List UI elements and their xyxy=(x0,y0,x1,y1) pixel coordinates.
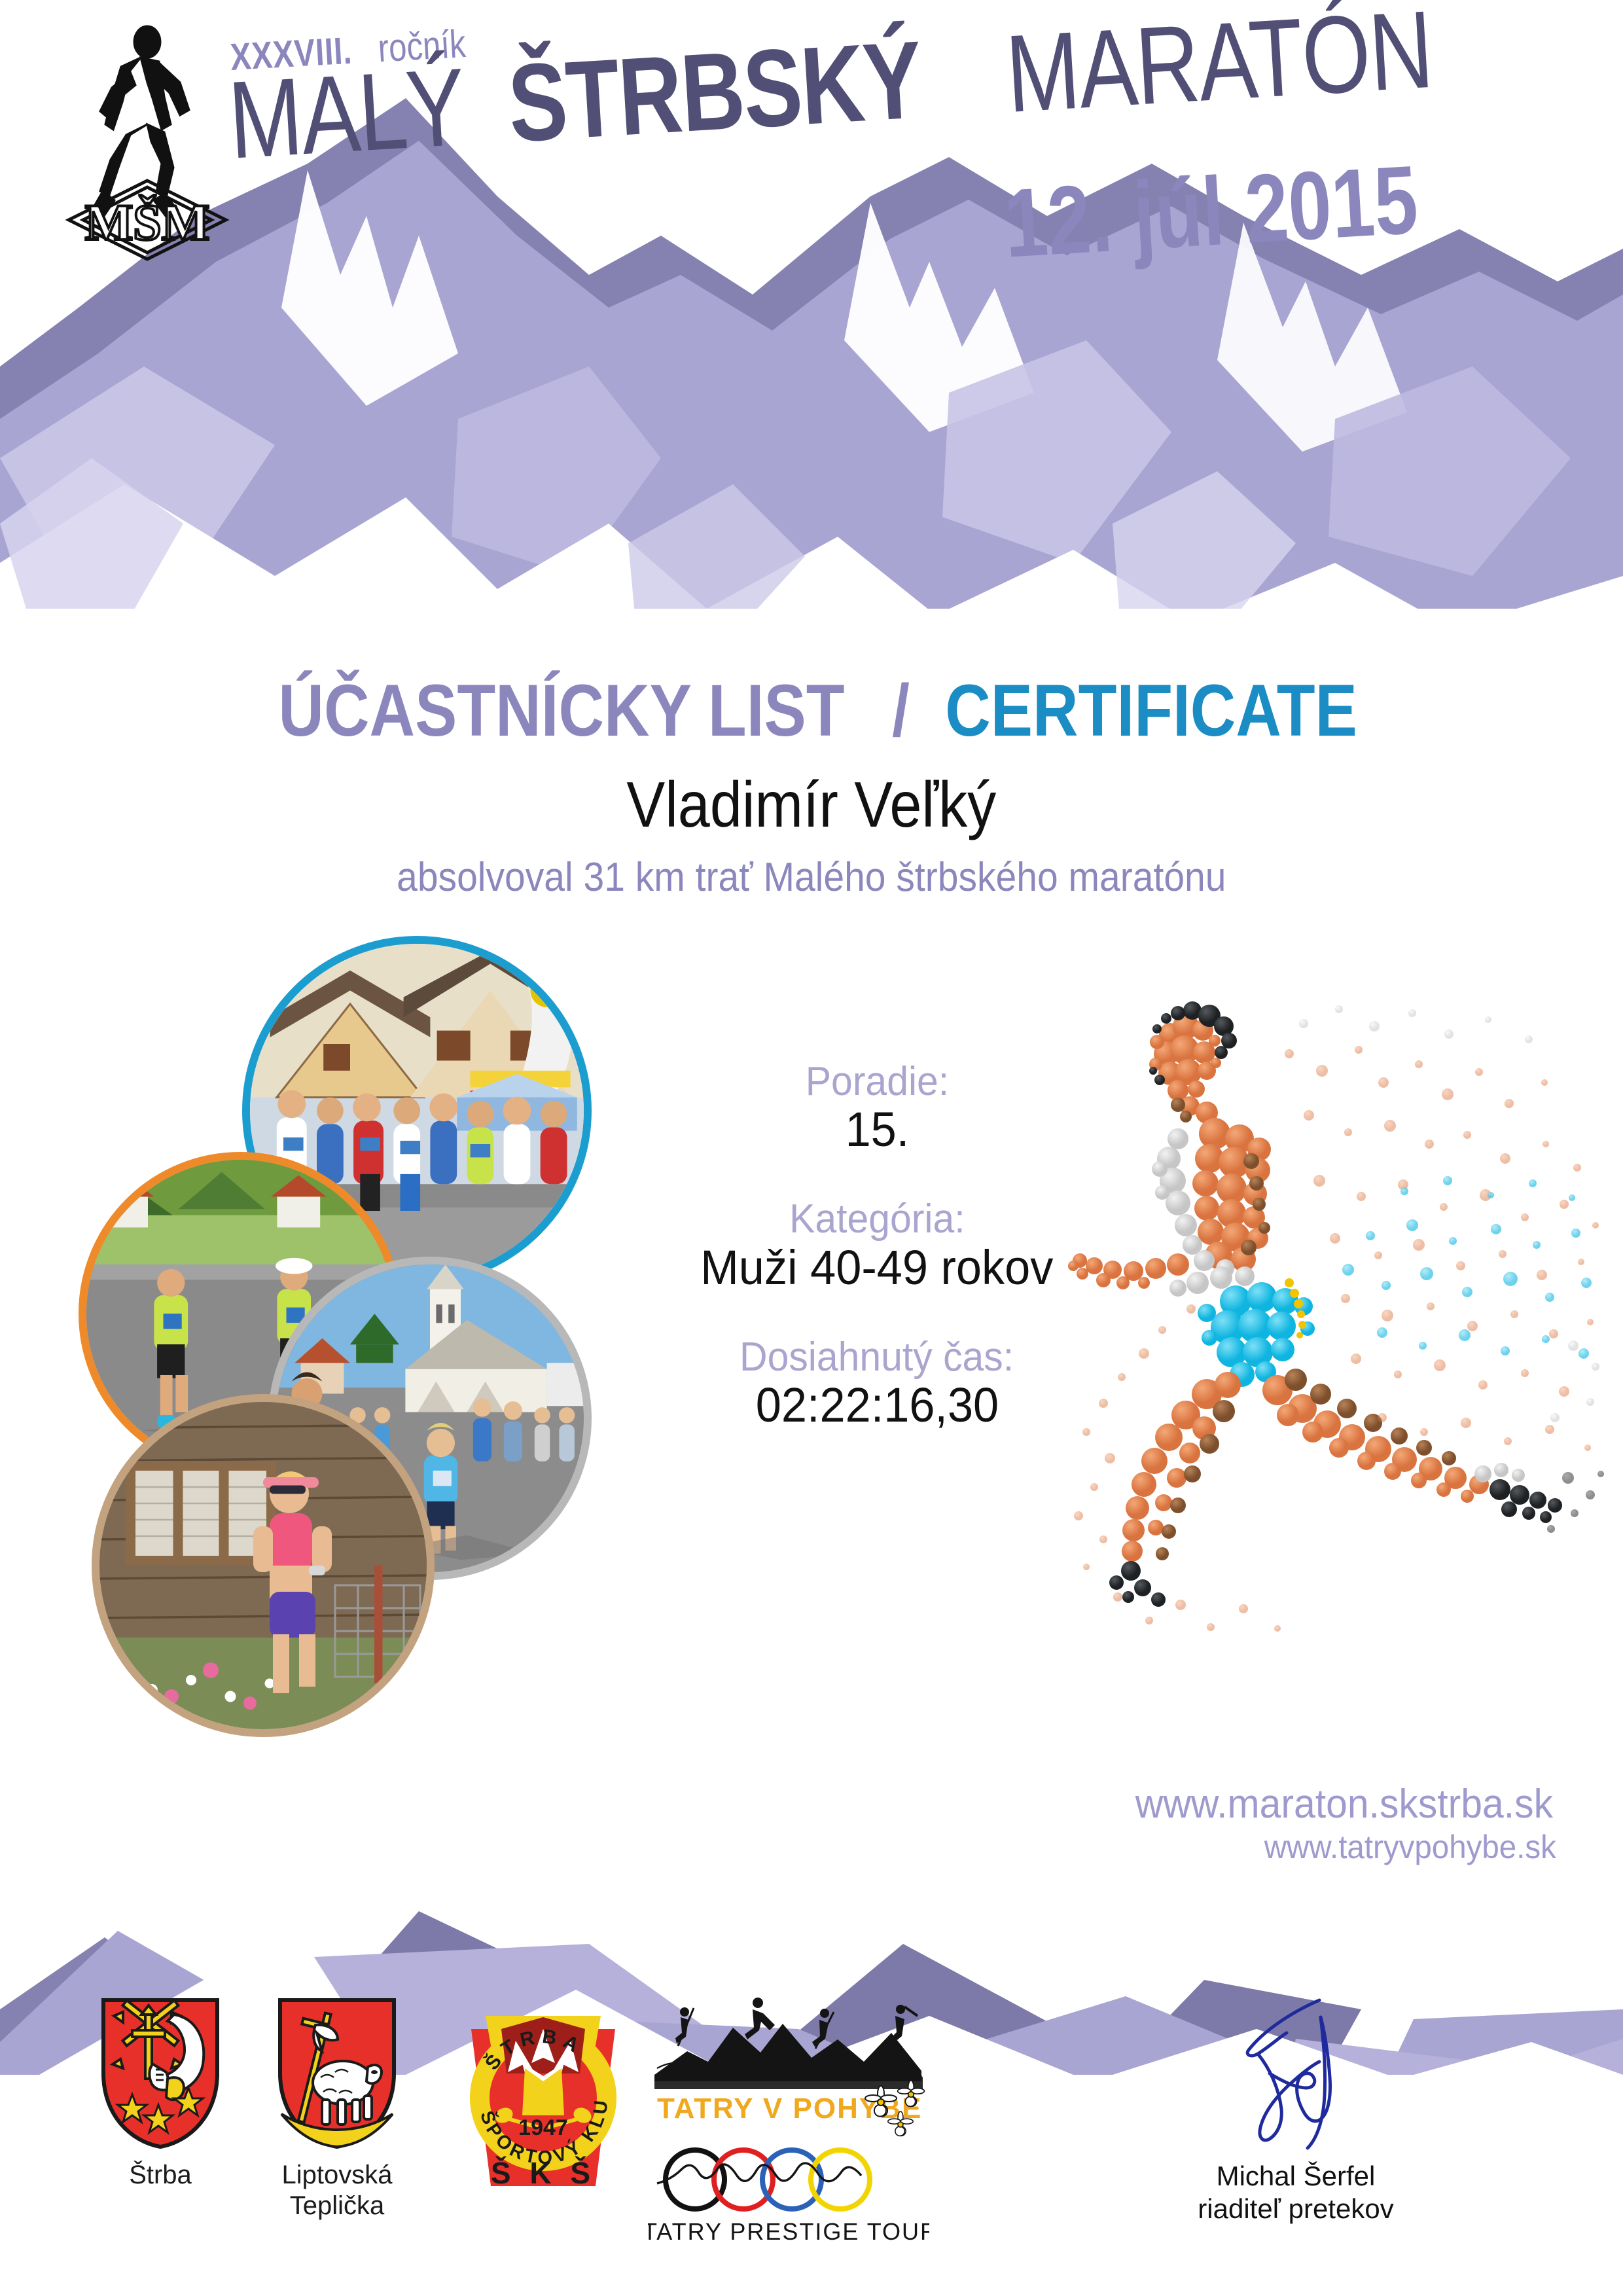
msm-runner-emblem: MŠM xyxy=(49,20,239,262)
url-primary[interactable]: www.maraton.skstrba.sk xyxy=(1124,1780,1564,1828)
title-maraton: MARATÓN xyxy=(1003,0,1435,129)
tatry-prestige-tour-rings xyxy=(666,2150,870,2209)
sks-year: 1947 xyxy=(518,2115,568,2140)
title-maly: MALÝ xyxy=(226,52,467,175)
logo-strba-caption: Štrba xyxy=(95,2160,226,2191)
photo-woman-runner-cottage xyxy=(92,1394,435,1737)
footer-logos: Štrba xyxy=(0,1983,1623,2296)
dotted-runner-graphic xyxy=(982,942,1623,1662)
signature-role: riaditeľ pretekov xyxy=(1113,2193,1479,2225)
certificate-page: MŠM XXXVIII. ročník MALÝŠTRBSKÝMARATÓN 1… xyxy=(0,0,1623,2296)
url-secondary[interactable]: www.tatryvpohybe.sk xyxy=(1124,1828,1564,1867)
svg-text:MŠM: MŠM xyxy=(85,194,210,251)
logo-strba: Štrba xyxy=(95,1996,226,2191)
logo-sks-club: 1947 ŠTRBA ŠPORTOVÝ KLUB Š K Š xyxy=(445,1990,641,2215)
certificate-title-en: CERTIFICATE xyxy=(945,674,1357,747)
certificate-subtitle-text: absolvoval 31 km trať Malého štrbského m… xyxy=(397,857,1226,898)
strba-coat-of-arms-icon xyxy=(98,1996,223,2150)
logo-liptovska-caption-line2: Teplička xyxy=(262,2191,412,2221)
tatry-prestige-tour-text: TATRY PRESTIGE TOUR xyxy=(648,2218,929,2245)
logo-tatry-v-pohybe: TATRY V POHYBE xyxy=(648,1990,929,2268)
logo-liptovska-teplicka: Liptovská Teplička xyxy=(262,1996,412,2221)
dotted-runner-svg xyxy=(982,942,1623,1662)
liptovska-teplicka-coat-of-arms-icon xyxy=(275,1996,399,2150)
svg-text:Š K Š: Š K Š xyxy=(491,2156,596,2190)
certificate-title: ÚČASTNÍCKY LIST / CERTIFICATE xyxy=(0,674,1623,747)
title-strbsky: ŠTRBSKÝ xyxy=(505,24,924,158)
photo-collage xyxy=(79,936,622,1787)
photo-woman-runner-image xyxy=(99,1402,427,1729)
logo-liptovska-caption-line1: Liptovská xyxy=(262,2160,412,2191)
signature-block: Michal Šerfel riaditeľ pretekov xyxy=(1113,1996,1479,2226)
sks-club-logo-icon: 1947 ŠTRBA ŠPORTOVÝ KLUB Š K Š xyxy=(445,1990,641,2212)
signature-name: Michal Šerfel xyxy=(1113,2160,1479,2193)
participant-name-text: Vladimír Veľký xyxy=(627,772,997,836)
certificate-title-separator: / xyxy=(893,674,910,747)
certificate-title-sk: ÚČASTNÍCKY LIST xyxy=(279,674,845,747)
certificate-subtitle: absolvoval 31 km trať Malého štrbského m… xyxy=(0,857,1623,898)
website-links: www.maraton.skstrba.sk www.tatryvpohybe.… xyxy=(1124,1780,1564,1867)
participant-name: Vladimír Veľký xyxy=(0,772,1623,836)
header-banner: MŠM XXXVIII. ročník MALÝŠTRBSKÝMARATÓN 1… xyxy=(0,0,1623,655)
tatry-v-pohybe-icon: TATRY V POHYBE xyxy=(648,1990,929,2265)
signature-ink xyxy=(1165,1996,1427,2160)
